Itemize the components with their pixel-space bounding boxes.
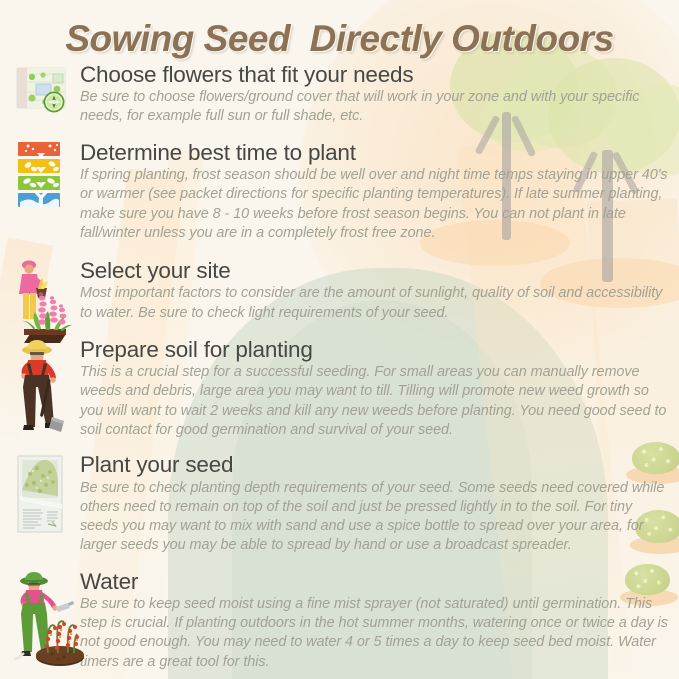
icon-slot xyxy=(8,569,80,570)
gardener-with-shovel-icon xyxy=(12,337,72,433)
four-seasons-bands-icon xyxy=(12,140,70,214)
icon-slot xyxy=(8,140,80,141)
infographic-poster: Sowing Seed Directly Outdoors xyxy=(0,0,679,679)
step-body: Be sure to keep seed moist using a fine … xyxy=(80,595,669,672)
step-body: Most important factors to consider are t… xyxy=(80,284,669,323)
step-item-plant-seed: Plant your seed Be sure to check plantin… xyxy=(0,452,679,555)
step-text: Select your site Most important factors … xyxy=(80,258,679,323)
gardener-with-flower-planter-icon xyxy=(12,258,74,344)
steps-list: Choose flowers that fit your needs Be su… xyxy=(0,62,679,672)
poster-title: Sowing Seed Directly Outdoors xyxy=(0,18,679,60)
step-body: Be sure to check planting depth requirem… xyxy=(80,479,669,556)
icon-slot xyxy=(8,258,80,259)
step-heading: Water xyxy=(80,569,669,594)
step-heading: Select your site xyxy=(80,258,669,283)
icon-slot xyxy=(8,337,80,338)
step-heading: Plant your seed xyxy=(80,452,669,477)
step-text: Determine best time to plant If spring p… xyxy=(80,140,679,243)
step-item-prepare-soil: Prepare soil for planting This is a cruc… xyxy=(0,337,679,440)
step-heading: Choose flowers that fit your needs xyxy=(80,62,669,87)
step-item-choose-flowers: Choose flowers that fit your needs Be su… xyxy=(0,62,679,127)
step-body: If spring planting, frost season should … xyxy=(80,166,669,243)
icon-slot xyxy=(8,62,80,63)
gardener-watering-flowers-icon xyxy=(12,569,86,667)
step-body: Be sure to choose flowers/ground cover t… xyxy=(80,88,669,127)
step-text: Prepare soil for planting This is a cruc… xyxy=(80,337,679,440)
step-heading: Prepare soil for planting xyxy=(80,337,669,362)
seed-packet-icon xyxy=(12,452,70,536)
step-item-water: Water Be sure to keep seed moist using a… xyxy=(0,569,679,672)
step-heading: Determine best time to plant xyxy=(80,140,669,165)
step-text: Plant your seed Be sure to check plantin… xyxy=(80,452,679,555)
step-body: This is a crucial step for a successful … xyxy=(80,363,669,440)
step-text: Water Be sure to keep seed moist using a… xyxy=(80,569,679,672)
garden-plan-compass-icon xyxy=(12,62,74,124)
step-item-select-site: Select your site Most important factors … xyxy=(0,258,679,323)
step-text: Choose flowers that fit your needs Be su… xyxy=(80,62,679,127)
step-item-determine-time: Determine best time to plant If spring p… xyxy=(0,140,679,243)
icon-slot xyxy=(8,452,80,453)
